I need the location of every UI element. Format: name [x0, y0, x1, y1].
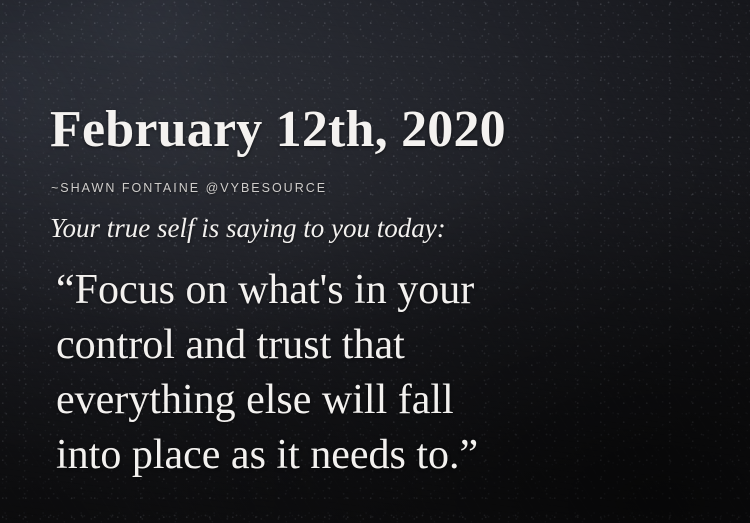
card-content: February 12th, 2020 ~SHAWN FONTAINE @VYB…	[0, 0, 750, 523]
quote-line: everything else will fall	[56, 373, 478, 428]
lead-in-text: Your true self is saying to you today:	[50, 213, 446, 244]
date-title: February 12th, 2020	[50, 104, 506, 156]
quote-card: February 12th, 2020 ~SHAWN FONTAINE @VYB…	[0, 0, 750, 523]
author-attribution: ~SHAWN FONTAINE @VYBESOURCE	[51, 181, 327, 195]
quote-line: control and trust that	[56, 318, 478, 373]
quote-text: “Focus on what's in your control and tru…	[56, 263, 478, 483]
quote-line: “Focus on what's in your	[56, 263, 478, 318]
quote-line: into place as it needs to.”	[56, 428, 478, 483]
